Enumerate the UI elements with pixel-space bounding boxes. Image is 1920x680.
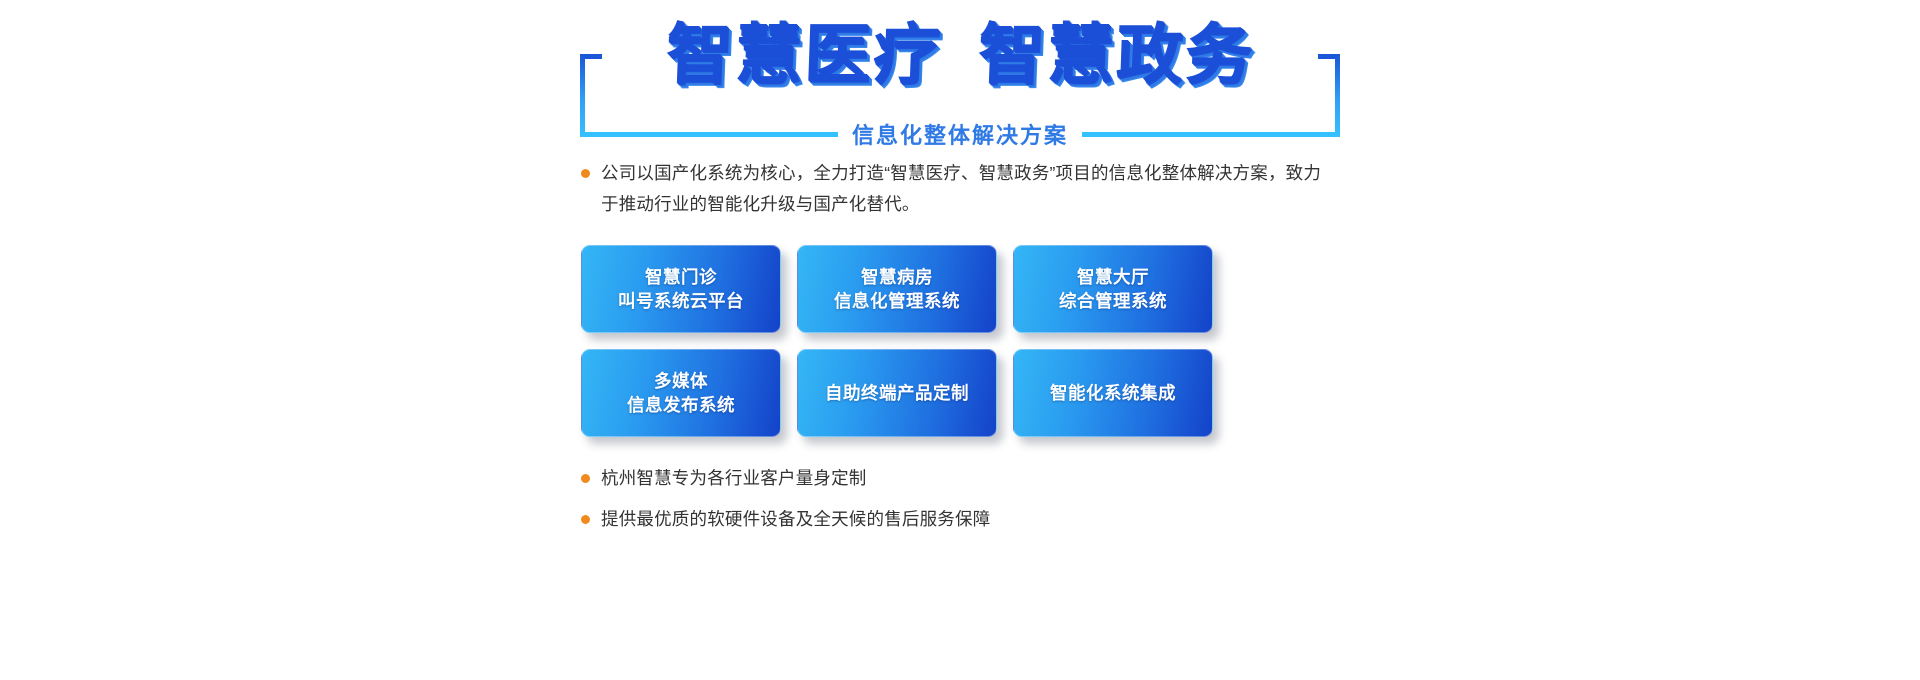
page-root: 智慧医疗智慧政务 信息化整体解决方案 公司以国产化系统为核心，全力打造“智慧医疗… — [0, 0, 1920, 680]
solution-card-line2: 综合管理系统 — [1059, 289, 1167, 313]
solution-card-line2: 信息发布系统 — [627, 393, 735, 417]
rule-segment-right — [1082, 132, 1336, 137]
solution-card-line1: 智慧病房 — [861, 267, 933, 287]
content-column: 公司以国产化系统为核心，全力打造“智慧医疗、智慧政务”项目的信息化整体解决方案，… — [565, 158, 1355, 531]
page-title-part-2: 智慧政务 — [977, 16, 1256, 93]
list-item: 提供最优质的软硬件设备及全天候的售后服务保障 — [581, 508, 1355, 531]
intro-paragraph: 公司以国产化系统为核心，全力打造“智慧医疗、智慧政务”项目的信息化整体解决方案，… — [565, 158, 1355, 219]
solution-card-label: 多媒体 信息发布系统 — [619, 369, 743, 417]
solution-card-grid: 智慧门诊 叫号系统云平台 智慧病房 信息化管理系统 智慧大厅 综合管理系统 — [565, 245, 1213, 437]
header: 智慧医疗智慧政务 信息化整体解决方案 — [0, 22, 1920, 137]
rule-segment-left — [584, 132, 838, 137]
solution-card-label: 智慧门诊 叫号系统云平台 — [610, 265, 752, 313]
solution-card[interactable]: 智慧大厅 综合管理系统 — [1013, 245, 1213, 333]
solution-card-line1: 多媒体 — [654, 371, 708, 391]
solution-card[interactable]: 自助终端产品定制 — [797, 349, 997, 437]
solution-card-line2: 叫号系统云平台 — [618, 289, 744, 313]
feature-bullet-text: 杭州智慧专为各行业客户量身定制 — [601, 467, 867, 490]
solution-card-label: 智慧病房 信息化管理系统 — [826, 265, 968, 313]
content-area: 公司以国产化系统为核心，全力打造“智慧医疗、智慧政务”项目的信息化整体解决方案，… — [0, 158, 1920, 531]
title-bottom-rule: 信息化整体解决方案 — [584, 132, 1336, 137]
list-item: 杭州智慧专为各行业客户量身定制 — [581, 467, 1355, 490]
solution-card[interactable]: 智能化系统集成 — [1013, 349, 1213, 437]
solution-card-line2: 信息化管理系统 — [834, 289, 960, 313]
solution-card-line1: 智慧大厅 — [1077, 267, 1149, 287]
solution-card-line1: 自助终端产品定制 — [825, 383, 969, 403]
page-title-part-1: 智慧医疗 — [665, 16, 944, 93]
bullet-dot-icon — [581, 169, 590, 178]
solution-card[interactable]: 智慧门诊 叫号系统云平台 — [581, 245, 781, 333]
solution-card-label: 自助终端产品定制 — [817, 381, 977, 405]
bullet-dot-icon — [581, 474, 590, 483]
solution-card-line1: 智慧门诊 — [645, 267, 717, 287]
page-title: 智慧医疗智慧政务 — [579, 22, 1341, 88]
solution-card-line1: 智能化系统集成 — [1050, 383, 1176, 403]
solution-card[interactable]: 多媒体 信息发布系统 — [581, 349, 781, 437]
solution-card-label: 智能化系统集成 — [1042, 381, 1184, 405]
title-frame: 智慧医疗智慧政务 信息化整体解决方案 — [580, 22, 1340, 137]
bullet-dot-icon — [581, 515, 590, 524]
solution-card[interactable]: 智慧病房 信息化管理系统 — [797, 245, 997, 333]
feature-bullet-text: 提供最优质的软硬件设备及全天候的售后服务保障 — [601, 508, 990, 531]
solution-card-label: 智慧大厅 综合管理系统 — [1051, 265, 1175, 313]
intro-paragraph-text: 公司以国产化系统为核心，全力打造“智慧医疗、智慧政务”项目的信息化整体解决方案，… — [601, 158, 1331, 219]
feature-bullet-list: 杭州智慧专为各行业客户量身定制 提供最优质的软硬件设备及全天候的售后服务保障 — [565, 467, 1355, 531]
page-subtitle: 信息化整体解决方案 — [838, 125, 1082, 147]
